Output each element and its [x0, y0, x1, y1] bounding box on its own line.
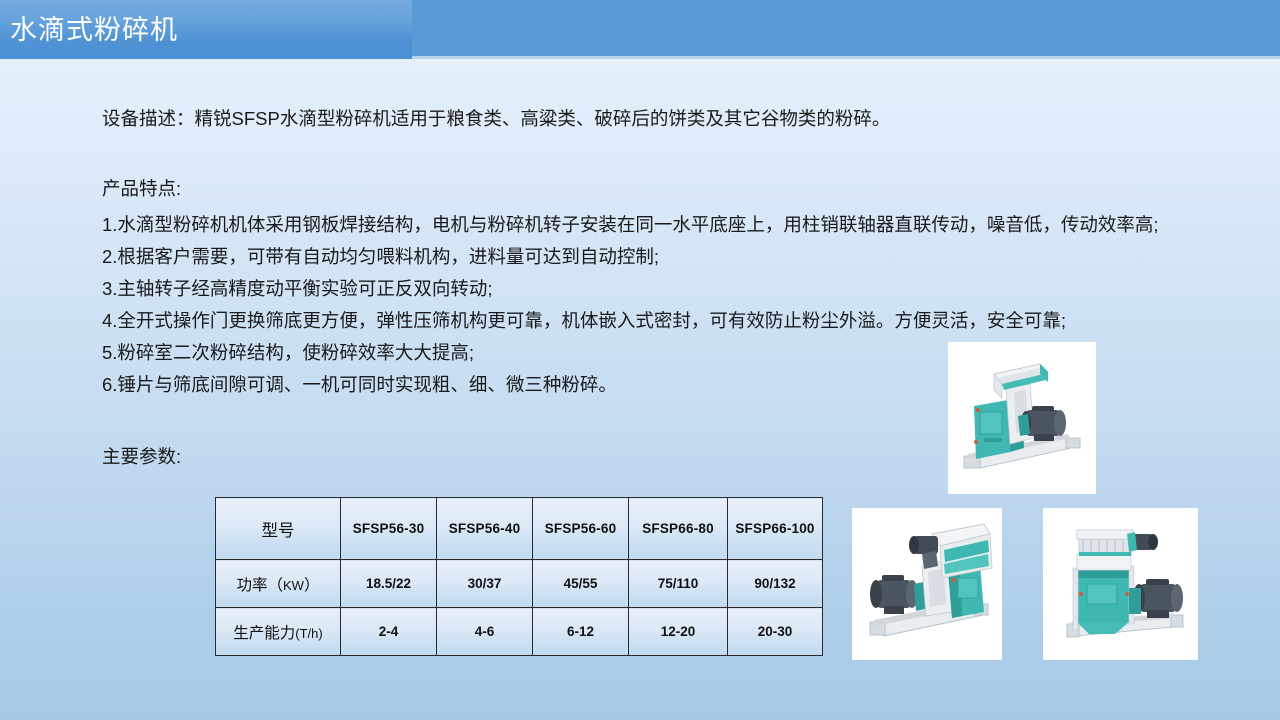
table-cell: 20-30 [728, 608, 823, 656]
table-row-label: 生产能力(T/h) [216, 608, 341, 656]
table-cell: 2-4 [341, 608, 437, 656]
model-header-text: 型号 [262, 522, 295, 540]
feature-item: 2.根据客户需要，可带有自动均匀喂料机构，进料量可达到自动控制; [102, 241, 1159, 273]
spec-table-container: 型号 SFSP56-30 SFSP56-40 SFSP56-60 SFSP66-… [215, 497, 823, 656]
hammer-mill-photo-right [1043, 508, 1198, 660]
capacity-value: 12-20 [661, 624, 696, 639]
capacity-value: 20-30 [758, 624, 793, 639]
table-cell: 18.5/22 [341, 560, 437, 608]
capacity-label-unit: (T/h) [295, 626, 322, 641]
parameters-heading: 主要参数: [102, 444, 181, 470]
power-label: 功率（KW） [237, 577, 320, 594]
table-cell: 45/55 [533, 560, 629, 608]
model-name: SFSP66-80 [642, 521, 714, 536]
capacity-value: 6-12 [567, 624, 594, 639]
table-header-cell-label: 型号 [216, 498, 341, 560]
slide-content: 设备描述：精锐SFSP水滴型粉碎机适用于粮食类、高粱类、破碎后的饼类及其它谷物类… [0, 0, 1280, 720]
capacity-value: 4-6 [475, 624, 495, 639]
model-name: SFSP56-30 [353, 521, 425, 536]
features-heading: 产品特点: [102, 176, 181, 202]
capacity-label: 生产能力(T/h) [233, 625, 322, 642]
feature-item: 1.水滴型粉碎机机体采用钢板焊接结构，电机与粉碎机转子安装在同一水平底座上，用柱… [102, 209, 1159, 241]
capacity-label-main: 生产能力 [233, 625, 295, 642]
feature-item: 3.主轴转子经高精度动平衡实验可正反双向转动; [102, 273, 1159, 305]
power-label-main: 功率（ [237, 577, 284, 594]
model-name: SFSP66-100 [735, 521, 814, 536]
specifications-table: 型号 SFSP56-30 SFSP56-40 SFSP56-60 SFSP66-… [215, 497, 823, 656]
table-row: 功率（KW） 18.5/22 30/37 45/55 75/110 [216, 560, 823, 608]
table-cell: 75/110 [629, 560, 728, 608]
hammer-mill-illustration [852, 508, 1002, 660]
table-cell: 4-6 [437, 608, 533, 656]
model-name: SFSP56-60 [545, 521, 617, 536]
power-value: 30/37 [468, 576, 502, 591]
table-row: 型号 SFSP56-30 SFSP56-40 SFSP56-60 SFSP66-… [216, 498, 823, 560]
power-label-tail: ） [304, 577, 320, 594]
hammer-mill-illustration [948, 342, 1096, 494]
power-value: 90/132 [754, 576, 795, 591]
table-header-cell-model: SFSP56-30 [341, 498, 437, 560]
feature-item: 4.全开式操作门更换筛底更方便，弹性压筛机构更可靠，机体嵌入式密封，可有效防止粉… [102, 305, 1159, 337]
table-header-cell-model: SFSP56-40 [437, 498, 533, 560]
table-header-cell-model: SFSP66-100 [728, 498, 823, 560]
power-label-unit: KW [283, 578, 304, 593]
power-value: 45/55 [564, 576, 598, 591]
hammer-mill-illustration [1043, 508, 1198, 660]
table-row-label: 功率（KW） [216, 560, 341, 608]
table-cell: 6-12 [533, 608, 629, 656]
model-name: SFSP56-40 [449, 521, 521, 536]
table-cell: 30/37 [437, 560, 533, 608]
capacity-value: 2-4 [379, 624, 399, 639]
power-value: 75/110 [658, 576, 699, 591]
table-cell: 12-20 [629, 608, 728, 656]
hammer-mill-photo-top [948, 342, 1096, 494]
table-cell: 90/132 [728, 560, 823, 608]
power-value: 18.5/22 [366, 576, 411, 591]
hammer-mill-photo-left [852, 508, 1002, 660]
equipment-description: 设备描述：精锐SFSP水滴型粉碎机适用于粮食类、高粱类、破碎后的饼类及其它谷物类… [102, 106, 890, 132]
table-header-cell-model: SFSP56-60 [533, 498, 629, 560]
table-header-cell-model: SFSP66-80 [629, 498, 728, 560]
table-row: 生产能力(T/h) 2-4 4-6 6-12 12-20 2 [216, 608, 823, 656]
